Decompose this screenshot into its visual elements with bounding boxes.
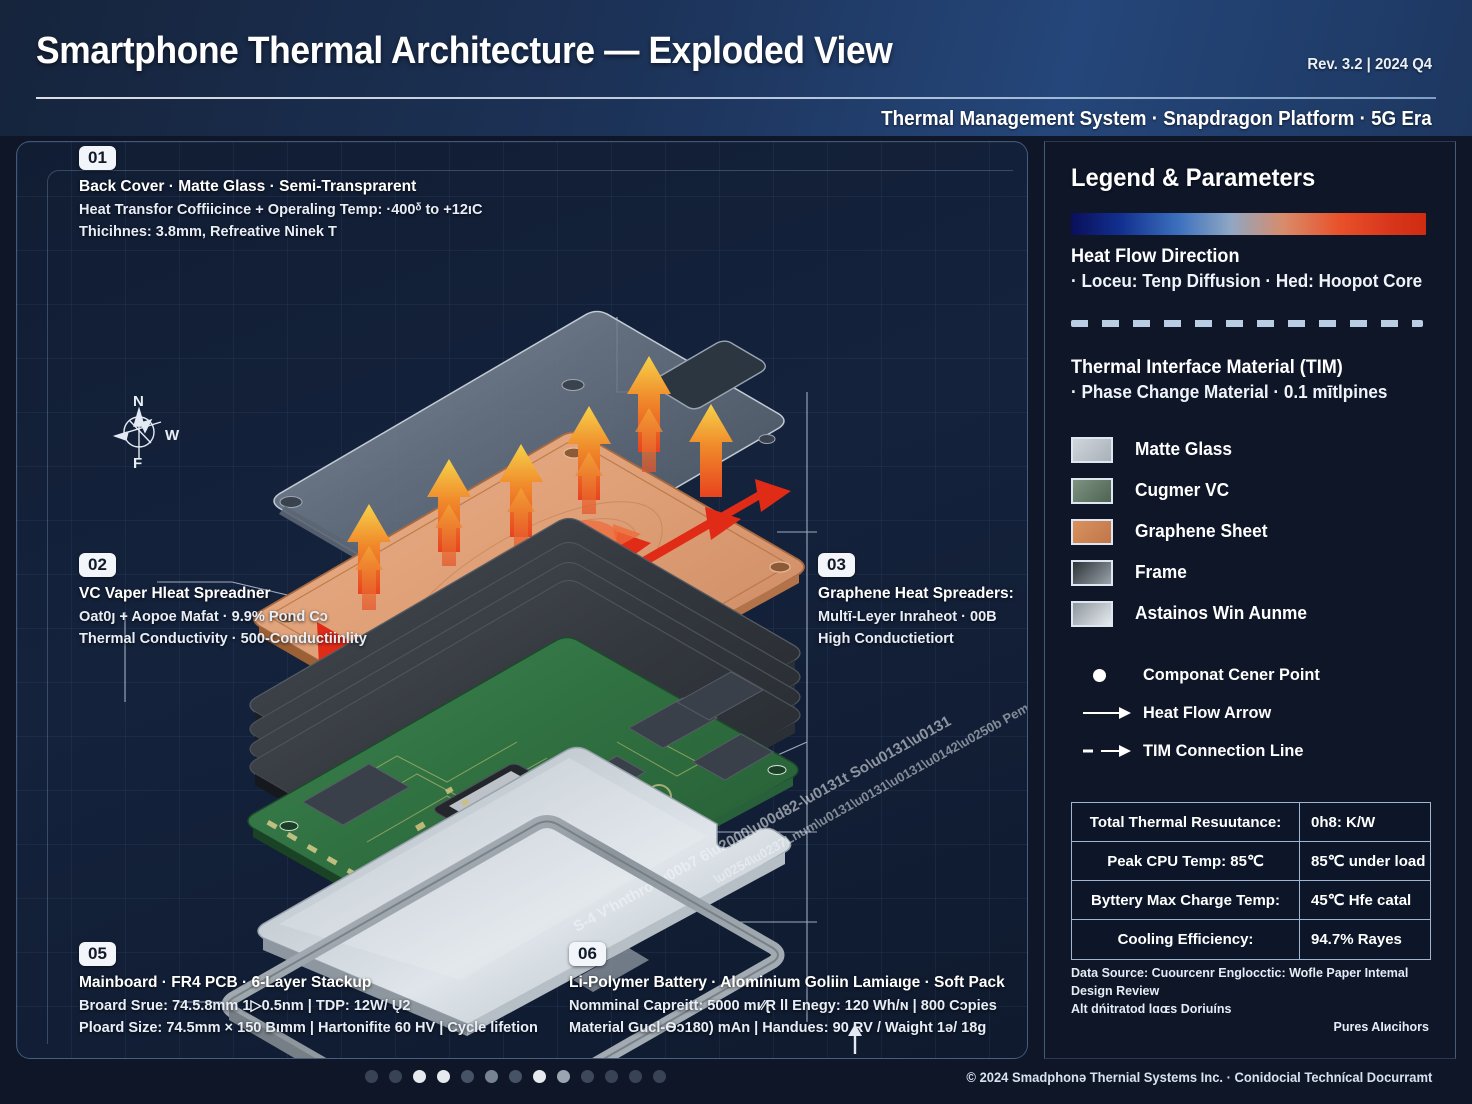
param-key-thermal-resistance: Total Thermal Resuutance: [1072, 803, 1300, 841]
compass-north: N [133, 393, 144, 410]
swatch-row-frame[interactable]: Frame [1071, 552, 1429, 593]
page-dot[interactable] [413, 1070, 426, 1083]
parameters-table: Total Thermal Resuutance: 0h8: K/W Peak … [1071, 802, 1431, 960]
scale-indicator: Yo 1 Darmnm [817, 1022, 893, 1059]
param-key-cooling-efficiency: Cooling Efficiency: [1072, 920, 1300, 959]
symbol-label-heat-arrow: Heat Flow Arrow [1143, 703, 1271, 723]
callout-05-badge: 05 [79, 942, 116, 966]
callout-02-line2: Oat0ȷ + Aopoe Mafat · 9.9% Pond Cɔ [79, 606, 367, 628]
callout-05: 05 Mainboard · FR4 PCB · 6-Layer Stackup… [79, 942, 552, 1038]
callout-06-line2: Nomminal Capreitt: 5000 mı⁄⁄Ɽ ll Enegy: … [569, 995, 1005, 1017]
tim-subtitle: · Phase Change Material · 0.1 mītlpines [1071, 382, 1411, 403]
swatch-frame [1071, 560, 1113, 586]
table-row: Byttery Max Charge Temp: 45℃ Hfe catal [1072, 881, 1430, 920]
callout-06-badge: 06 [569, 942, 606, 966]
heatflow-title: Heat Flow Direction [1071, 246, 1411, 268]
heatflow-subtitle: · Loceu: Tenp Diffusion · Hed: Hoopot Co… [1071, 271, 1411, 292]
heat-gradient-bar [1071, 213, 1426, 235]
material-swatch-list: Matte Glass Cugmer VC Graphene Sheet Fra… [1071, 429, 1429, 634]
swatch-row-astainos[interactable]: Astainos Win Aunme [1071, 593, 1429, 634]
swatch-graphene-sheet [1071, 519, 1113, 545]
param-value-battery-max-temp: 45℃ Hfe catal [1300, 881, 1430, 919]
callout-03-line2: Multī-Leyer Inraheot · 00B [818, 606, 1014, 628]
callout-02-badge: 02 [79, 553, 116, 577]
page-dot[interactable] [605, 1070, 618, 1083]
callout-03-badge: 03 [818, 553, 855, 577]
pagination-dots[interactable] [0, 1070, 1030, 1083]
compass-south: F [133, 455, 142, 470]
callout-01-badge: 01 [79, 146, 116, 170]
page-dot[interactable] [461, 1070, 474, 1083]
symbol-label-tim-line: TIM Connection Line [1143, 741, 1303, 761]
symbol-row-center-point[interactable]: Componat Cener Point [1081, 656, 1429, 694]
callout-05-line3: Ploard Size: 74.5mm × 150 Bımm | Hartoni… [79, 1017, 538, 1039]
callout-02: 02 VC Vaper Hleat Spreadner Oat0ȷ + Aopo… [79, 553, 376, 649]
page-dot[interactable] [389, 1070, 402, 1083]
callout-06: 06 Li-Polymer Battery · Alominium Goliin… [569, 942, 1018, 1038]
poster-root: Smartphone Thermal Architecture — Explod… [0, 0, 1472, 1104]
arrow-right-icon [1081, 705, 1143, 721]
page-dot[interactable] [629, 1070, 642, 1083]
page-dot[interactable] [509, 1070, 522, 1083]
symbol-legend-list: Componat Cener Point Heat Flow Arrow [1071, 656, 1429, 770]
header-divider [36, 97, 1436, 99]
page-dot[interactable] [437, 1070, 450, 1083]
page-header: Smartphone Thermal Architecture — Explod… [0, 0, 1472, 136]
callout-01-line2: Heat Transfor Coffiicince + Operaling Te… [79, 199, 482, 221]
revision-label: Rev. 3.2 | 2024 Q4 [1307, 56, 1432, 74]
page-title: Smartphone Thermal Architecture — Explod… [36, 30, 892, 73]
legend-title: Legend & Parameters [1071, 164, 1411, 193]
page-dot[interactable] [581, 1070, 594, 1083]
page-dot[interactable] [365, 1070, 378, 1083]
callout-03-line1: Graphene Heat Spreaders: [818, 583, 1014, 606]
callout-03: 03 Graphene Heat Spreaders: Multī-Leyer … [818, 553, 1020, 649]
legend-panel: Legend & Parameters Heat Flow Direction … [1044, 141, 1456, 1059]
swatch-astainos-win-aunme [1071, 601, 1113, 627]
callout-02-line1: VC Vaper Hleat Spreadner [79, 583, 367, 606]
callout-06-line1: Li-Polymer Battery · Alominium Goliin La… [569, 972, 1005, 995]
symbol-row-tim-line[interactable]: TIM Connection Line [1081, 732, 1429, 770]
dashed-arrow-icon [1081, 743, 1143, 759]
filled-circle-icon [1081, 669, 1143, 682]
param-value-thermal-resistance: 0h8: K/W [1300, 803, 1430, 841]
symbol-label-center-point: Componat Cener Point [1143, 665, 1320, 685]
table-row: Total Thermal Resuutance: 0h8: K/W [1072, 803, 1430, 842]
source-line-2: Alt dńitratod lɑɶs Doriuíns [1071, 1000, 1429, 1018]
table-row: Cooling Efficiency: 94.7% Rayes [1072, 920, 1430, 959]
header-subtitle: Thermal Management System · Snapdragon P… [881, 108, 1432, 131]
callout-01-line3: Thicihnes: 3.8mm, Refreative Ninek T [79, 221, 482, 243]
swatch-label-matte-glass: Matte Glass [1135, 439, 1232, 460]
swatch-row-matte-glass[interactable]: Matte Glass [1071, 429, 1429, 470]
scale-label: Yo 1 [817, 1056, 893, 1059]
callout-02-line3: Thermal Conductivity · 500-Conductiinlit… [79, 628, 367, 650]
data-source-note: Data Source: Cuourcenr Englocctic: Wofle… [1071, 964, 1429, 1037]
param-key-battery-max-temp: Byttery Max Charge Temp: [1072, 881, 1300, 919]
tim-dashed-rule [1071, 320, 1423, 327]
tim-title: Thermal Interface Material (TIM) [1071, 357, 1411, 379]
table-row: Peak CPU Temp: 85℃ 85℃ under load [1072, 842, 1430, 881]
page-dot[interactable] [485, 1070, 498, 1083]
page-dot[interactable] [653, 1070, 666, 1083]
swatch-label-graphene-sheet: Graphene Sheet [1135, 521, 1268, 542]
param-value-cooling-efficiency: 94.7% Rayes [1300, 920, 1430, 959]
callout-05-line1: Mainboard · FR4 PCB · 6-Layer Stackup [79, 972, 538, 995]
swatch-label-astainos: Astainos Win Aunme [1135, 603, 1307, 624]
param-key-peak-cpu-temp: Peak CPU Temp: 85℃ [1072, 842, 1300, 880]
page-dot[interactable] [533, 1070, 546, 1083]
exploded-diagram-panel: S-4 V'hnthro \u00b7 6\u2000\u00d82-\u013… [16, 141, 1028, 1059]
callout-06-line3: Material Gucl-Ѳɔ180) mAn | Handues: 90 R… [569, 1017, 1005, 1039]
swatch-matte-glass [1071, 437, 1113, 463]
callout-05-line2: Broard Srue: 74.5.8mm 1▷0.5nm | TDP: 12W… [79, 995, 538, 1017]
swatch-cugmer-vc [1071, 478, 1113, 504]
swatch-row-cugmer-vc[interactable]: Cugmer VC [1071, 470, 1429, 511]
symbol-row-heat-arrow[interactable]: Heat Flow Arrow [1081, 694, 1429, 732]
swatch-row-graphene-sheet[interactable]: Graphene Sheet [1071, 511, 1429, 552]
swatch-label-frame: Frame [1135, 562, 1187, 583]
source-line-1: Data Source: Cuourcenr Englocctic: Wofle… [1071, 964, 1429, 1000]
page-dot[interactable] [557, 1070, 570, 1083]
param-value-peak-cpu-temp: 85℃ under load [1300, 842, 1430, 880]
source-authors: Pures AІиcihors [1071, 1018, 1429, 1036]
copyright-notice: © 2024 Smadphonə Thernial Systems Inc. ·… [966, 1070, 1432, 1085]
callout-01: 01 Back Cover · Matte Glass · Semi-Trans… [79, 146, 495, 242]
callout-03-line3: High Conductietiort [818, 628, 1014, 650]
swatch-label-cugmer-vc: Cugmer VC [1135, 480, 1229, 501]
compass-rose: N W F [103, 392, 187, 470]
callout-01-line1: Back Cover · Matte Glass · Semi-Transpra… [79, 176, 482, 199]
compass-east: W [165, 427, 180, 444]
